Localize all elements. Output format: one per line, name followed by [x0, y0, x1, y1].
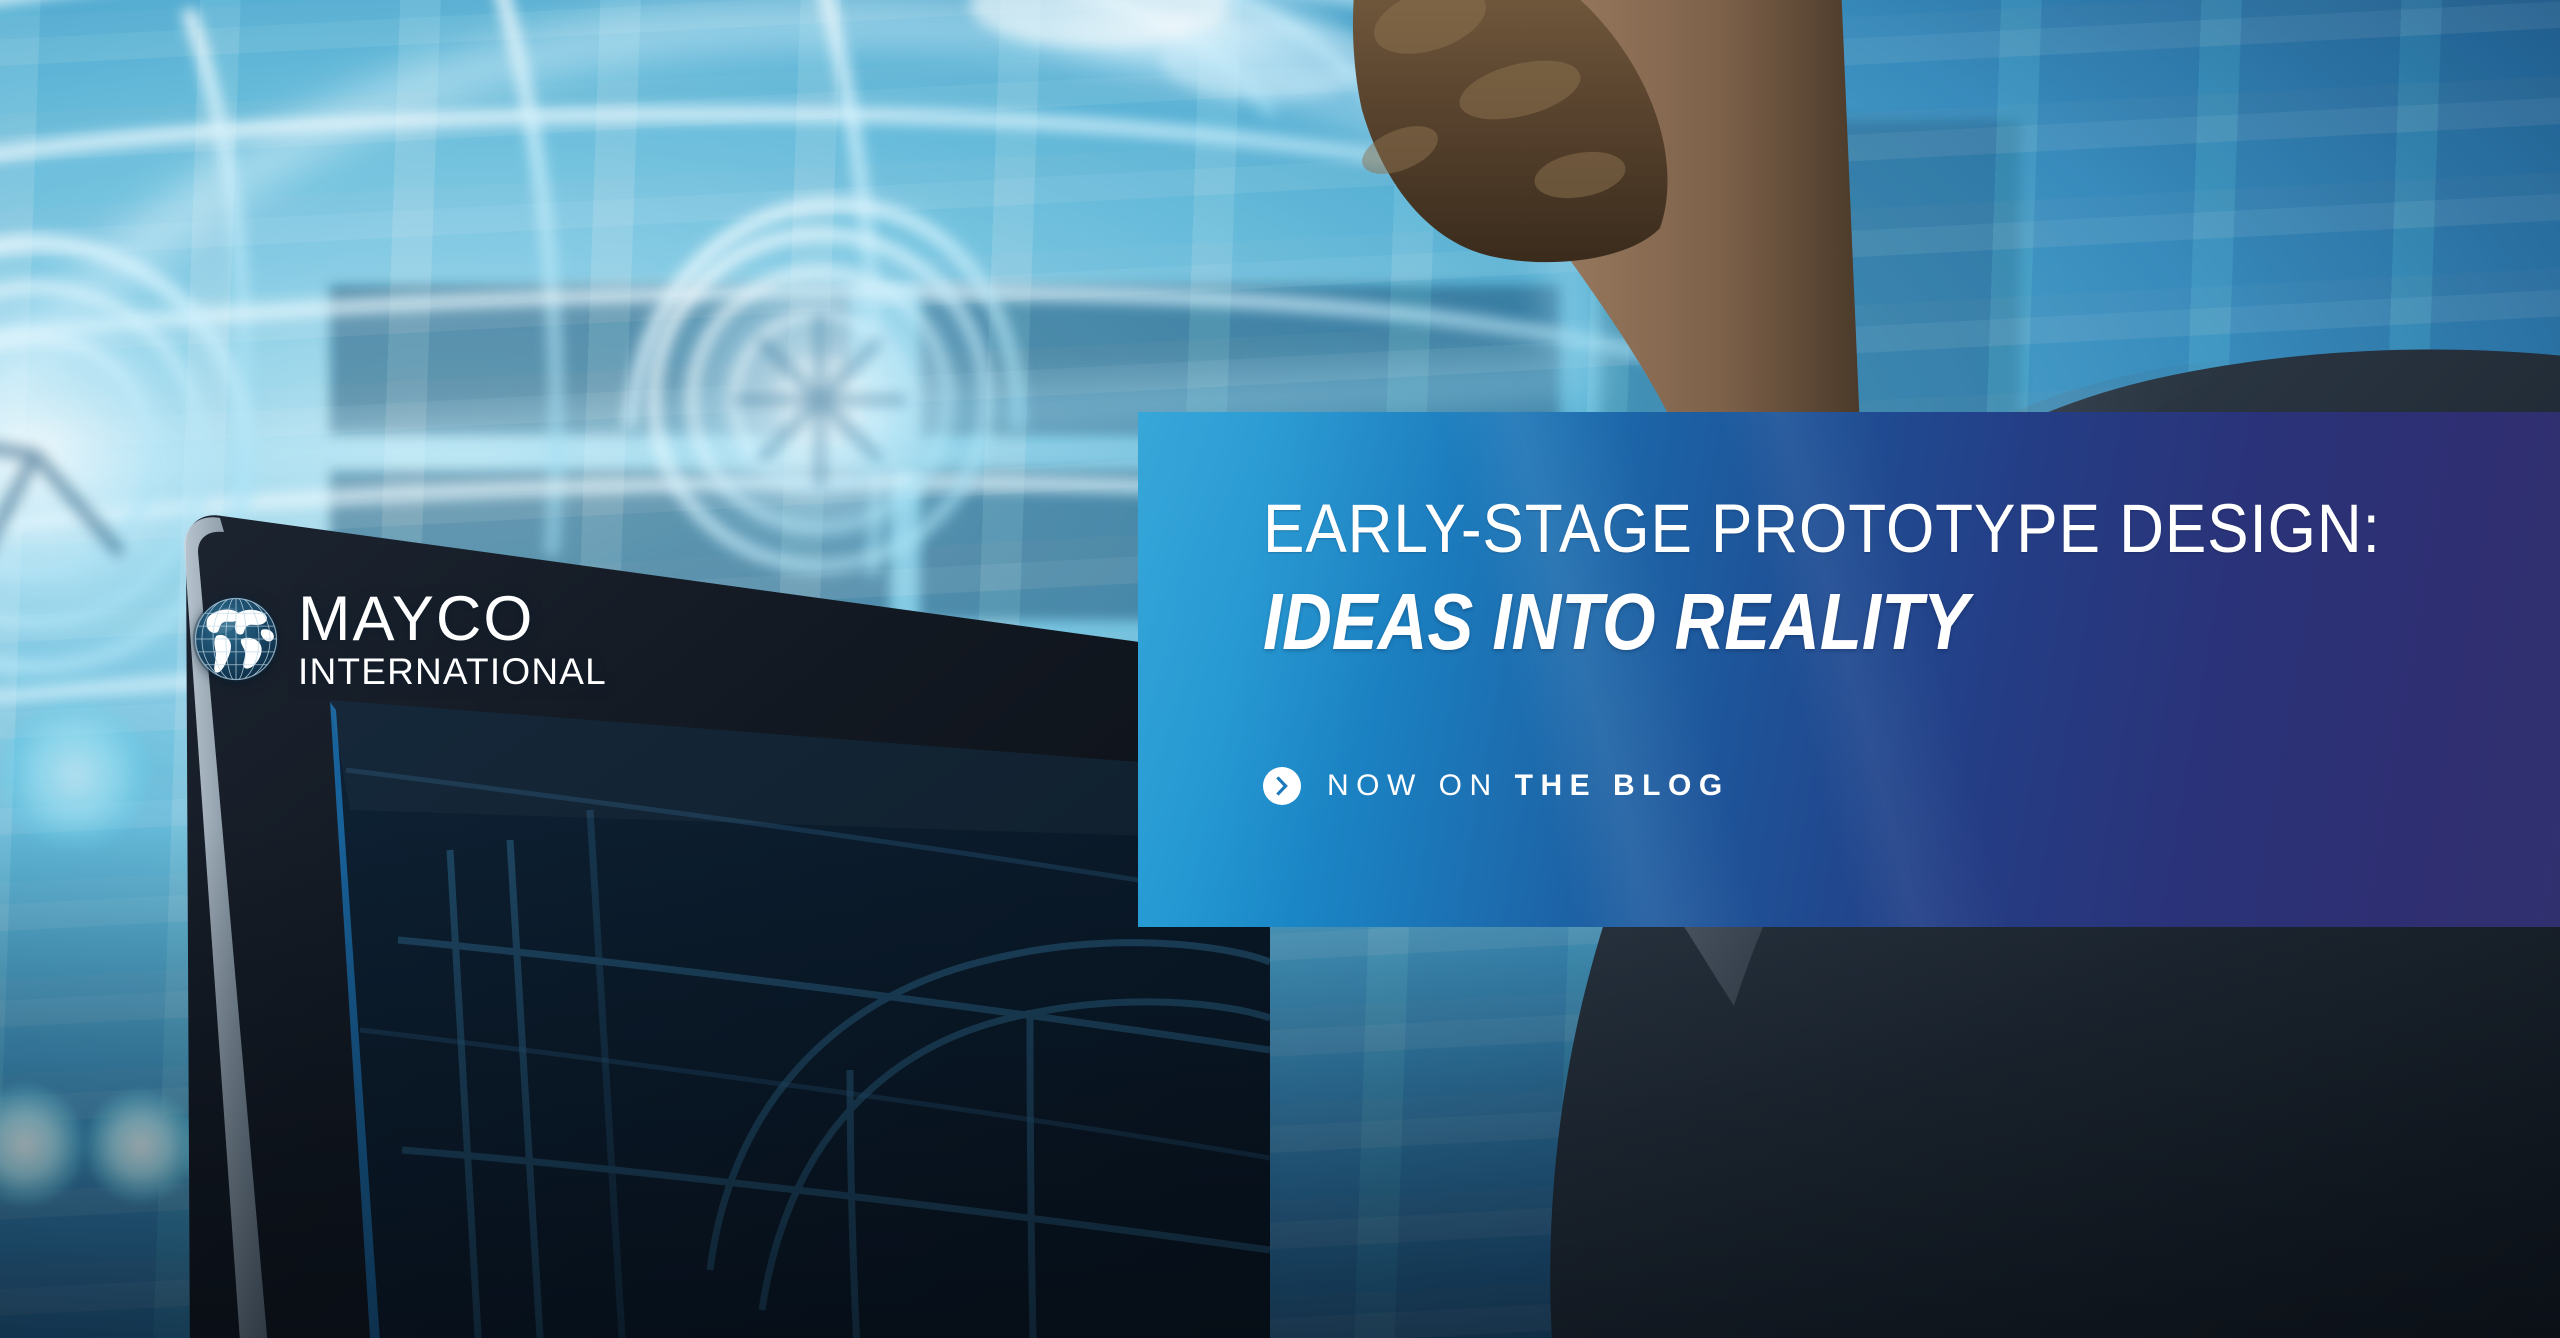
banner-canvas: MAYCO INTERNATIONAL EARLY-STAGE PROTOTYP… [0, 0, 2560, 1338]
logo-wordmark: MAYCO INTERNATIONAL [298, 588, 607, 690]
promo-panel[interactable]: EARLY-STAGE PROTOTYPE DESIGN: IDEAS INTO… [1138, 412, 2560, 927]
chevron-right-circle-icon [1263, 767, 1301, 805]
logo-subtitle: INTERNATIONAL [298, 653, 607, 690]
cta-emphasis: THE BLOG [1515, 769, 1730, 803]
blog-cta-link[interactable]: NOW ON THE BLOG [1263, 767, 1730, 805]
promo-panel-content: EARLY-STAGE PROTOTYPE DESIGN: IDEAS INTO… [1263, 412, 2560, 927]
cta-prefix: NOW ON [1327, 769, 1499, 803]
promo-headline-line2: IDEAS INTO REALITY [1263, 582, 1969, 662]
mayco-logo[interactable]: MAYCO INTERNATIONAL [190, 588, 607, 690]
promo-headline-line1: EARLY-STAGE PROTOTYPE DESIGN: [1263, 494, 2381, 563]
cta-text-group: NOW ON THE BLOG [1327, 769, 1730, 803]
bokeh-light [0, 700, 150, 850]
globe-icon [190, 593, 282, 685]
logo-name: MAYCO [298, 588, 607, 651]
